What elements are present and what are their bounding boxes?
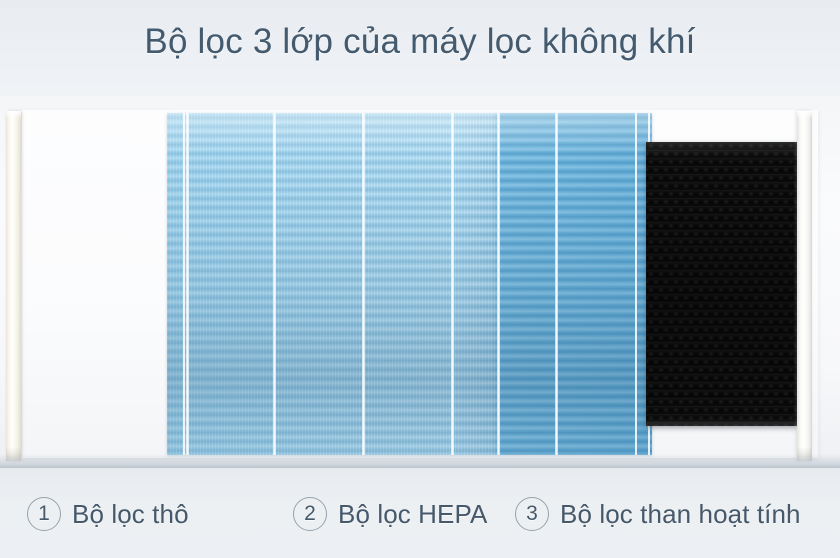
legend-item-carbon-filter: 3 Bộ lọc than hoạt tính bbox=[515, 492, 801, 536]
left-frame-rail bbox=[6, 111, 21, 461]
legend-number-2: 2 bbox=[293, 497, 327, 531]
legend-number-3: 3 bbox=[515, 497, 549, 531]
activated-carbon-filter bbox=[646, 142, 798, 426]
page-title: Bộ lọc 3 lớp của máy lọc không khí bbox=[0, 22, 840, 62]
legend-label-2: Bộ lọc HEPA bbox=[338, 499, 487, 530]
carbon-shading bbox=[646, 142, 798, 426]
filter-illustration bbox=[0, 96, 840, 468]
legend-item-hepa-filter: 2 Bộ lọc HEPA bbox=[293, 492, 487, 536]
pleat-separator bbox=[635, 113, 637, 455]
right-frame-rail bbox=[797, 111, 812, 461]
infographic-page: Bộ lọc 3 lớp của máy lọc không khí bbox=[0, 0, 840, 558]
filter-shading bbox=[167, 113, 652, 455]
pleat-separator bbox=[186, 113, 189, 455]
legend-row: 1 Bộ lọc thô 2 Bộ lọc HEPA 3 Bộ lọc than… bbox=[0, 468, 840, 558]
legend-number-1: 1 bbox=[27, 497, 61, 531]
title-bar: Bộ lọc 3 lớp của máy lọc không khí bbox=[0, 0, 840, 96]
pleat-separator bbox=[183, 113, 185, 455]
legend-label-1: Bộ lọc thô bbox=[72, 499, 189, 530]
pleated-filter-block bbox=[167, 113, 652, 455]
legend-label-3: Bộ lọc than hoạt tính bbox=[560, 499, 801, 530]
pleat-separator bbox=[362, 113, 365, 455]
pleat-separator bbox=[273, 113, 276, 455]
legend-bar: 1 Bộ lọc thô 2 Bộ lọc HEPA 3 Bộ lọc than… bbox=[0, 468, 840, 558]
pleat-separator bbox=[451, 113, 454, 455]
pleat-separator bbox=[555, 113, 558, 455]
legend-item-pre-filter: 1 Bộ lọc thô bbox=[27, 492, 189, 536]
pleat-separator bbox=[497, 113, 500, 455]
